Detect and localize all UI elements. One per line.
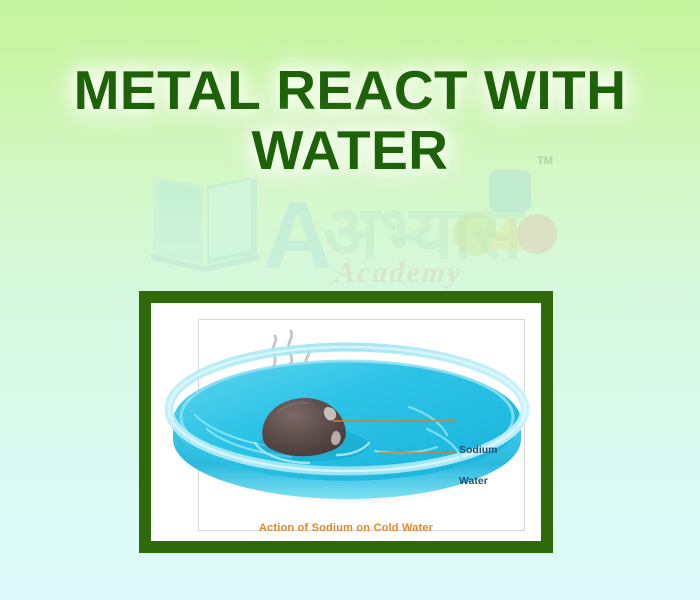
label-water: Water bbox=[459, 475, 488, 487]
watermark-script: Academy bbox=[333, 256, 462, 289]
figure-caption: Action of Sodium on Cold Water bbox=[151, 522, 541, 534]
watermark-brand-devanagari: अभ्यास bbox=[323, 190, 525, 276]
poster-canvas: A अभ्यास Academy TM METAL bbox=[0, 0, 700, 600]
label-sodium: Sodium bbox=[459, 444, 498, 456]
title-line-1: METAL REACT WITH bbox=[0, 60, 700, 120]
watermark-shapes bbox=[453, 170, 557, 256]
sodium-water-diagram bbox=[151, 303, 541, 541]
figure-panel: Sodium Water Action of Sodium on Cold Wa… bbox=[151, 303, 541, 541]
open-book-icon bbox=[151, 176, 259, 272]
svg-text:A: A bbox=[263, 182, 332, 289]
figure-frame: Sodium Water Action of Sodium on Cold Wa… bbox=[139, 291, 553, 553]
watermark-letter-a: A bbox=[263, 182, 332, 289]
svg-text:अभ्यास: अभ्यास bbox=[323, 190, 525, 276]
page-title: METAL REACT WITH WATER bbox=[0, 60, 700, 180]
svg-text:Academy: Academy bbox=[333, 256, 462, 289]
title-line-2: WATER bbox=[0, 120, 700, 180]
